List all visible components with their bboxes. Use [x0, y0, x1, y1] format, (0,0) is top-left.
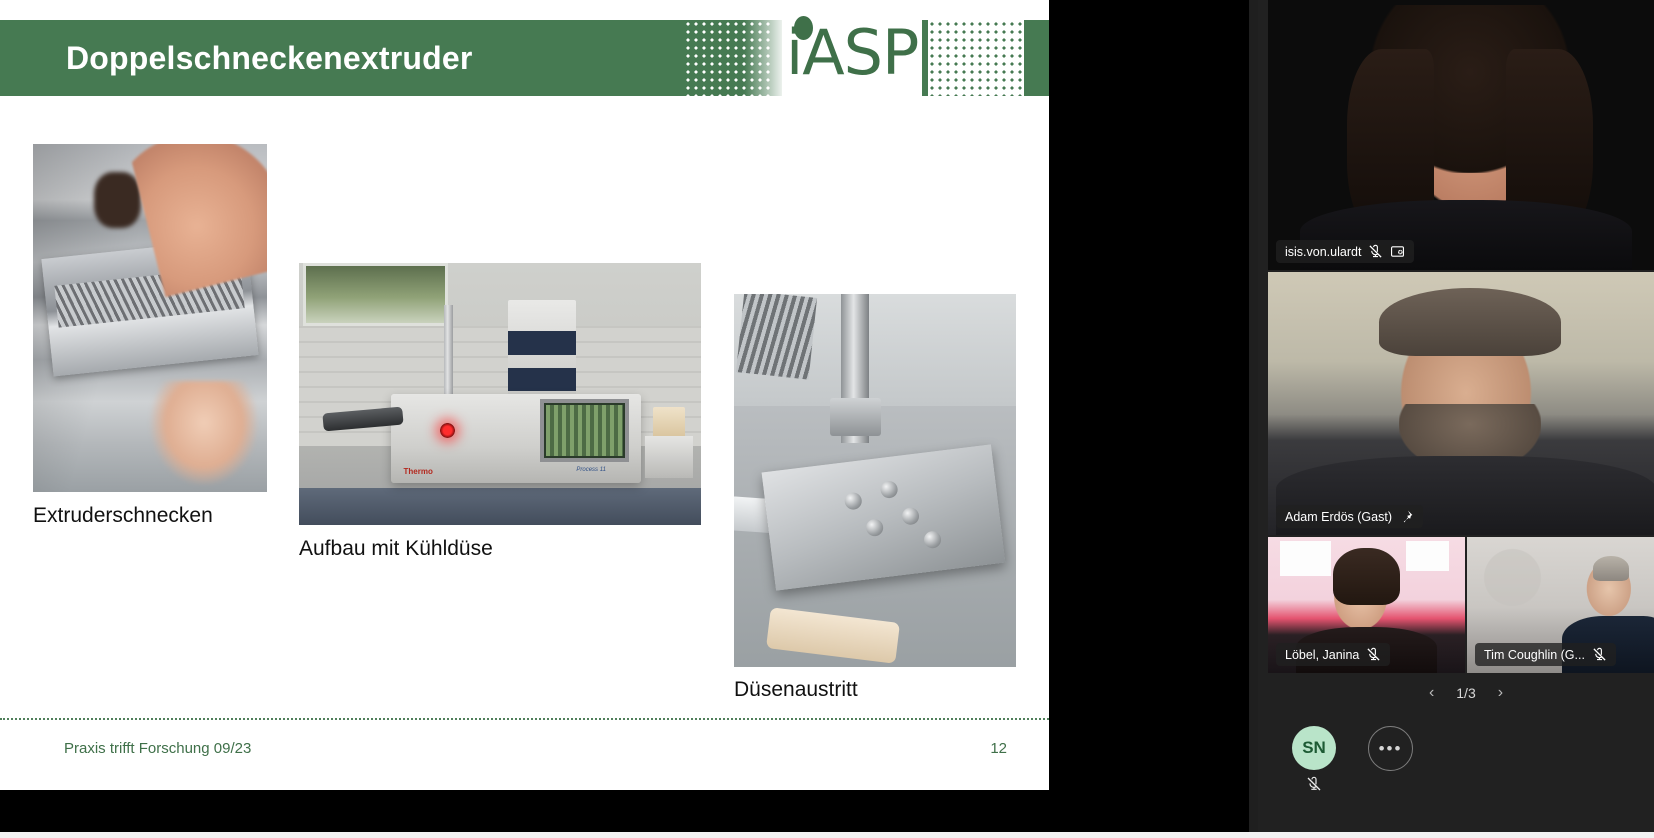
bolt — [879, 480, 898, 499]
bolt — [865, 518, 884, 537]
beaker — [653, 407, 685, 438]
bolt — [922, 530, 941, 549]
bolt — [901, 506, 920, 525]
hair — [1593, 556, 1628, 580]
participant-name-badge-1: isis.von.ulardt — [1276, 240, 1414, 263]
status-led — [440, 423, 455, 438]
iasp-logo: iASP — [782, 8, 922, 104]
photo-caption-2: Aufbau mit Kühldüse — [299, 537, 493, 561]
participant-name-1: isis.von.ulardt — [1285, 245, 1361, 259]
self-mic-off-icon — [1306, 776, 1322, 792]
logo-text: iASP — [786, 22, 918, 84]
lab-window — [303, 263, 448, 326]
machine-model-label: Process 11 — [576, 467, 606, 473]
self-avatar[interactable]: SN — [1292, 726, 1336, 770]
participant-name-3: Löbel, Janina — [1285, 648, 1359, 662]
hair — [1379, 288, 1561, 356]
photo-1-scene — [33, 144, 267, 492]
chevron-right-icon[interactable]: › — [1498, 685, 1503, 701]
slide-page-number: 12 — [990, 740, 1007, 757]
background-emblem — [1479, 545, 1546, 610]
participant-tile-tim-coughlin[interactable]: Tim Coughlin (G... — [1467, 537, 1654, 673]
background-poster-1 — [1280, 541, 1331, 576]
slide-title: Doppelschneckenextruder — [66, 40, 473, 76]
die-block — [761, 444, 1005, 591]
screen-share-stage[interactable]: iASP Doppelschneckenextruder Extrudersch… — [0, 0, 1249, 838]
participant-name-badge-4: Tim Coughlin (G... — [1475, 643, 1616, 666]
control-panel-display — [546, 405, 622, 456]
participant-tile-isis-von-ulardt[interactable]: isis.von.ulardt — [1268, 0, 1654, 270]
background-poster-2 — [1406, 541, 1449, 571]
chevron-left-icon[interactable]: ‹ — [1429, 685, 1434, 701]
photo-3-scene — [734, 294, 1016, 667]
machine-brand-label: Thermo — [404, 467, 433, 476]
lab-bench — [299, 488, 701, 525]
mic-off-icon — [1592, 647, 1607, 662]
photo-die-outlet — [734, 294, 1016, 667]
participant-name-4: Tim Coughlin (G... — [1484, 648, 1585, 662]
photo-caption-1: Extruderschnecken — [33, 504, 213, 528]
participant-rail-inner: isis.von.ulardt Adam Erdös (G — [1258, 0, 1654, 838]
hair — [1333, 548, 1400, 605]
page-indicator: 1/3 — [1456, 685, 1475, 701]
photo-caption-3: Düsenaustritt — [734, 678, 858, 702]
meeting-window: iASP Doppelschneckenextruder Extrudersch… — [0, 0, 1654, 838]
participant-name-badge-2: Adam Erdös (Gast) — [1276, 505, 1423, 528]
feeder-display-2 — [508, 368, 576, 392]
presentation-slide: iASP Doppelschneckenextruder Extrudersch… — [0, 0, 1049, 790]
participant-tile-adam-erdoes[interactable]: Adam Erdös (Gast) — [1268, 272, 1654, 535]
vertical-pipe — [444, 305, 453, 399]
photo-2-scene: Thermo Process 11 — [299, 263, 701, 525]
dark-object — [94, 172, 141, 228]
hand-lower — [150, 381, 258, 485]
pin-icon — [1399, 509, 1414, 524]
window-bottom-edge — [0, 832, 1654, 838]
footer-divider — [0, 718, 1049, 720]
participant-name-badge-3: Löbel, Janina — [1276, 643, 1390, 666]
spotlight-icon — [1390, 244, 1405, 259]
self-view-row: SN ••• — [1268, 712, 1654, 838]
participant-tile-loebel-janina[interactable]: Löbel, Janina — [1268, 537, 1465, 673]
halftone-pattern-right — [928, 20, 1024, 96]
photo-setup-cooling-nozzle: Thermo Process 11 — [299, 263, 701, 525]
participant-pagination: ‹ 1/3 › — [1268, 676, 1654, 710]
photo-extruder-screws — [33, 144, 267, 492]
participant-video-1 — [1268, 0, 1654, 270]
control-panel — [540, 399, 628, 462]
mic-off-icon — [1366, 647, 1381, 662]
feeder-display-1 — [508, 331, 576, 355]
lab-scale — [645, 436, 693, 478]
participant-name-2: Adam Erdös (Gast) — [1285, 510, 1392, 524]
bolt — [843, 492, 862, 511]
footer-event-label: Praxis trifft Forschung 09/23 — [64, 740, 251, 757]
participant-video-2 — [1268, 272, 1654, 535]
flexible-conduit — [736, 294, 817, 380]
extruded-strand — [766, 607, 900, 664]
nozzle-collar — [830, 398, 881, 435]
mic-off-icon — [1368, 244, 1383, 259]
share-letterbox — [1049, 0, 1249, 838]
more-options-button[interactable]: ••• — [1368, 726, 1413, 771]
participant-rail: isis.von.ulardt Adam Erdös (G — [1249, 0, 1654, 838]
